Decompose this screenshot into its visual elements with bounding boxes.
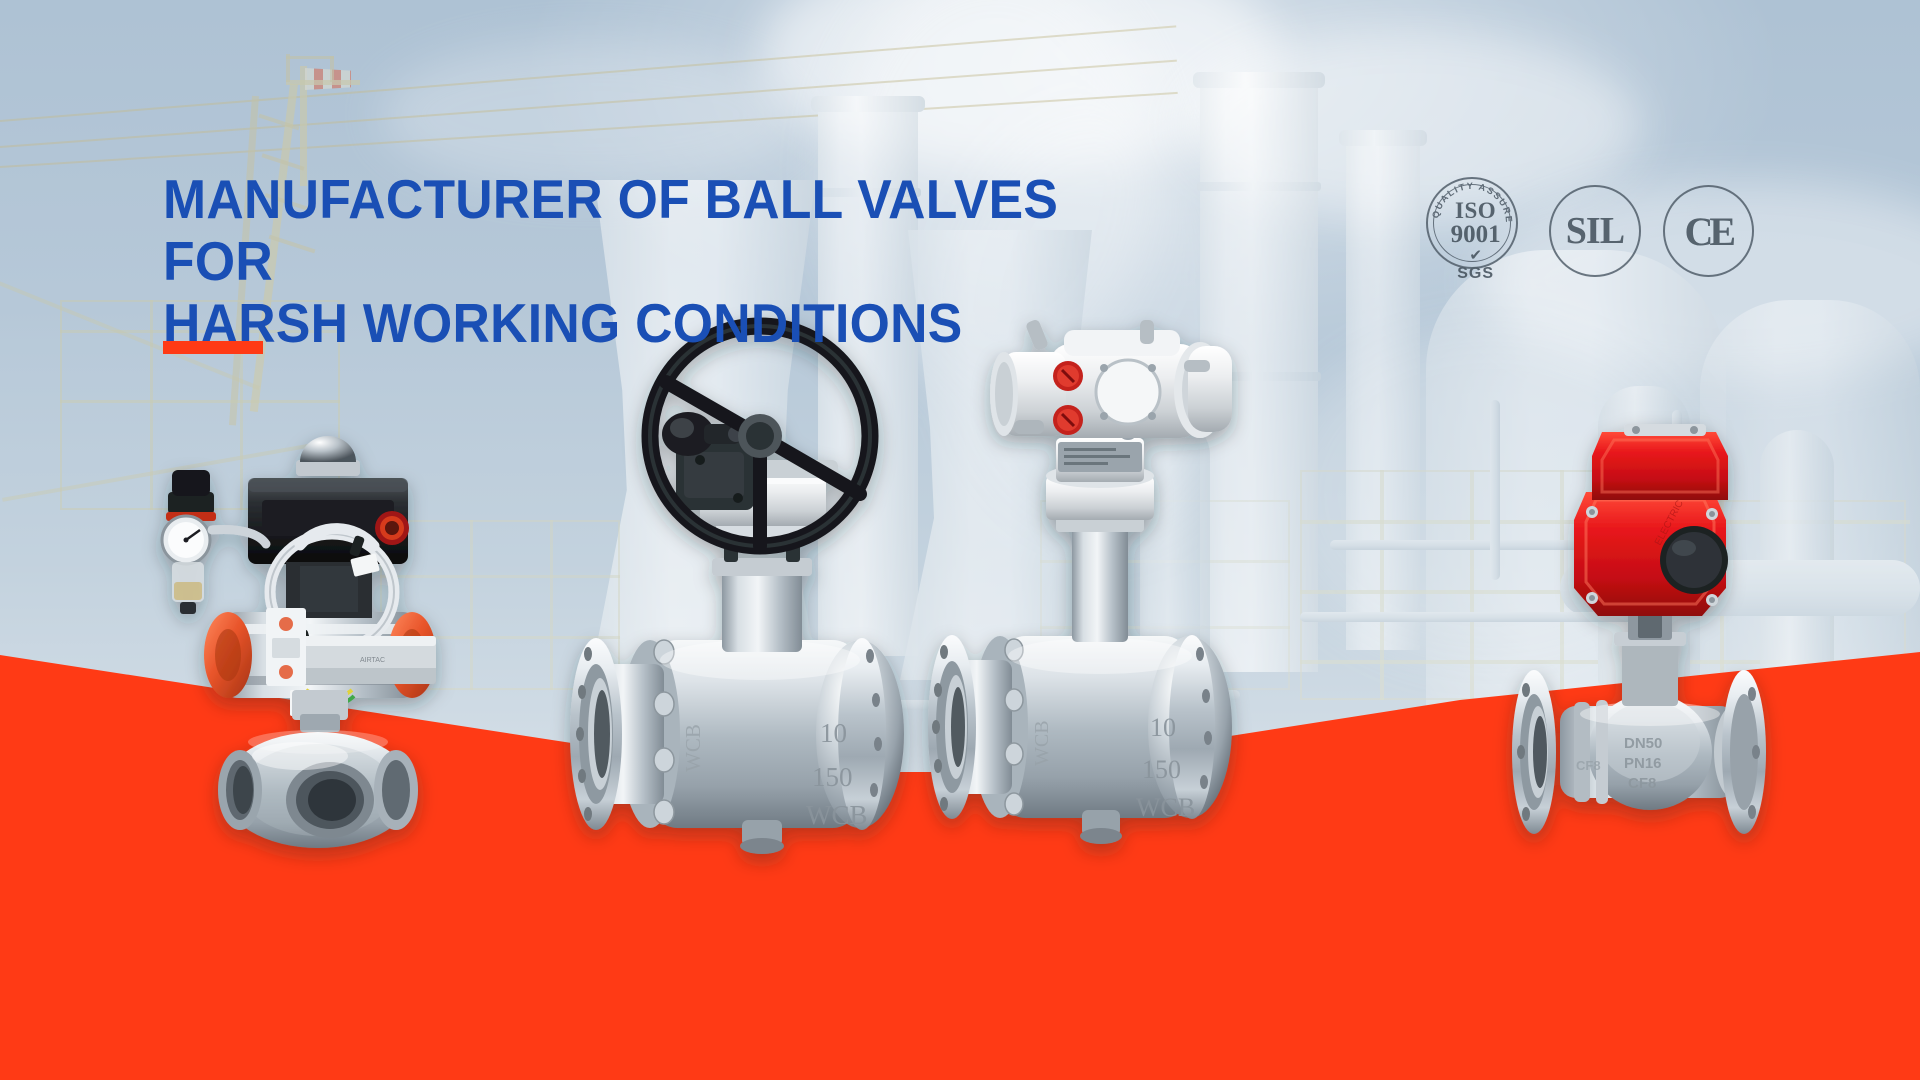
check-icon: ✔ <box>1424 251 1527 261</box>
valve-marking: 150 <box>812 762 853 792</box>
ce-badge: CE <box>1663 185 1754 277</box>
certification-badges: QUALITY ASSURED FIRM ISO 9001 ✔ SGS SIL … <box>1424 176 1754 286</box>
accent-bar <box>163 341 263 354</box>
sil-label: SIL <box>1566 209 1624 253</box>
iso-9001-badge: QUALITY ASSURED FIRM ISO 9001 ✔ SGS <box>1424 177 1527 285</box>
valve-marking: 10 <box>820 718 847 748</box>
product-electric-2pc-flanged-ball-valve: DN50 PN16 CF8 CF8 <box>1512 424 1766 834</box>
sgs-label: SGS <box>1424 265 1527 283</box>
svg-text:WCB: WCB <box>1031 720 1053 766</box>
valve-marking: DN50 <box>1624 735 1662 752</box>
svg-text:WCB: WCB <box>681 724 705 772</box>
valve-marking: WCB <box>806 800 868 830</box>
product-lineup: AIRTAC <box>0 0 1920 1080</box>
product-pneumatic-3way-ball-valve: AIRTAC <box>162 436 436 848</box>
iso-line2: 9001 <box>1424 222 1527 247</box>
ce-label: CE <box>1685 208 1733 255</box>
svg-text:CF8: CF8 <box>1576 758 1601 773</box>
product-electric-trunnion-ball-valve: 10 150 WCB WCB <box>928 318 1232 844</box>
valve-marking: 150 <box>1142 755 1181 784</box>
sil-badge: SIL <box>1549 185 1640 277</box>
page-title: MANUFACTURER OF BALL VALVES FOR HARSH WO… <box>163 168 1103 354</box>
valve-marking: CF8 <box>1628 775 1656 792</box>
hero-banner: MANUFACTURER OF BALL VALVES FOR HARSH WO… <box>0 0 1920 1080</box>
iso-line1: ISO <box>1424 199 1527 222</box>
svg-text:AIRTAC: AIRTAC <box>360 657 385 664</box>
headline-block: MANUFACTURER OF BALL VALVES FOR HARSH WO… <box>163 168 1163 354</box>
valve-marking: 10 <box>1150 713 1176 742</box>
valve-marking: PN16 <box>1624 755 1662 772</box>
iso-label: ISO 9001 <box>1424 199 1527 247</box>
product-gear-operated-trunnion-ball-valve: 10 150 WCB WCB <box>570 326 904 854</box>
valve-marking: WCB <box>1136 793 1195 822</box>
